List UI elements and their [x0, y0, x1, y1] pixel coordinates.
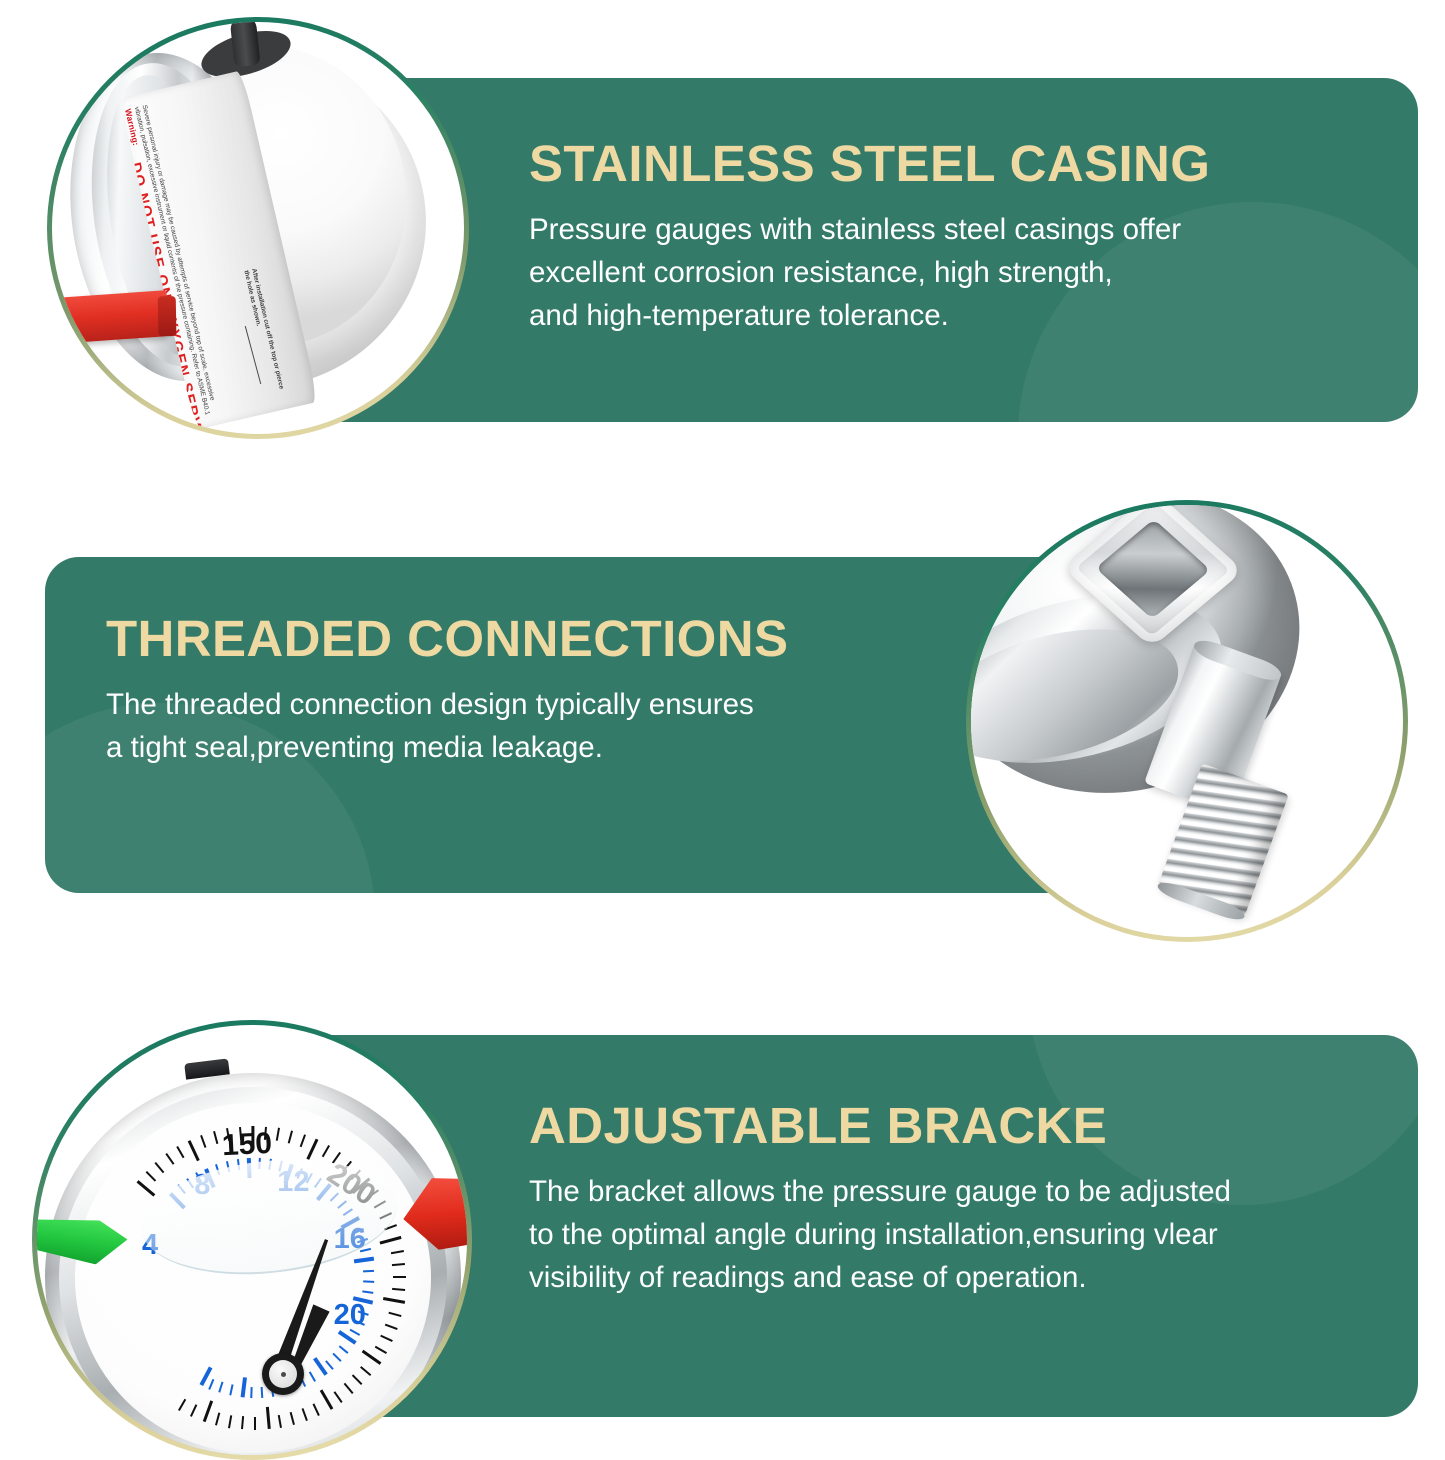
- dial-major-tick-psi: [361, 1350, 381, 1365]
- photo-gauge-casing-back: Warning: Severe personal injury or damag…: [52, 22, 464, 434]
- dial-minor-tick-bar: [362, 1291, 373, 1295]
- dial-major-tick-psi: [136, 1180, 155, 1197]
- dial-minor-tick-bar: [208, 1379, 214, 1390]
- feature-body-line: excellent corrosion resistance, high str…: [529, 251, 1319, 294]
- dial-minor-tick-bar: [308, 1372, 315, 1383]
- dial-minor-tick-psi: [145, 1171, 156, 1182]
- dial-minor-tick-psi: [241, 1416, 244, 1429]
- dial-minor-tick-bar: [338, 1345, 348, 1354]
- dial-minor-tick-psi: [290, 1412, 295, 1425]
- feature-body-1: Pressure gauges with stainless steel cas…: [529, 208, 1319, 337]
- dial-major-tick-psi: [307, 1139, 319, 1160]
- dial-number-bar: 4: [142, 1229, 158, 1262]
- feature-title-2: THREADED CONNECTIONS: [106, 613, 906, 665]
- circle-photo-clip: 15020048121620: [37, 1025, 467, 1455]
- feature-image-circle-casing: Warning: Severe personal injury or damag…: [47, 17, 469, 439]
- dial-major-tick-bar: [169, 1192, 186, 1209]
- dial-minor-tick-psi: [165, 1153, 174, 1165]
- dial-number-psi: 150: [221, 1127, 273, 1163]
- dial-minor-tick-psi: [288, 1131, 293, 1144]
- dial-minor-tick-psi: [374, 1346, 386, 1354]
- dial-minor-tick-psi: [302, 1408, 308, 1421]
- dial-minor-tick-psi: [391, 1250, 404, 1254]
- dial-minor-tick-bar: [332, 1353, 341, 1362]
- dial-minor-tick-psi: [200, 1135, 206, 1148]
- red-pull-tab: [55, 290, 170, 344]
- dial-minor-tick-bar: [177, 1184, 186, 1194]
- gauge-vent-nub: [229, 22, 260, 67]
- feature-text-block-3: ADJUSTABLE BRACKE The bracket allows the…: [529, 1100, 1329, 1299]
- dial-minor-tick-psi: [379, 1212, 392, 1219]
- dial-major-tick-bar: [354, 1257, 374, 1264]
- dial-minor-tick-psi: [343, 1383, 353, 1394]
- dial-minor-tick-bar: [215, 1164, 220, 1175]
- dial-minor-tick-bar: [325, 1360, 334, 1370]
- photo-gauge-dial: 15020048121620: [37, 1025, 467, 1455]
- dial-number-psi: 200: [321, 1157, 382, 1213]
- dial-minor-tick-psi: [388, 1312, 401, 1317]
- dial-minor-tick-psi: [384, 1224, 397, 1230]
- dial-minor-tick-bar: [250, 1387, 253, 1398]
- dial-major-tick-psi: [379, 1236, 401, 1245]
- gauge-dial-face: 15020048121620: [75, 1103, 431, 1453]
- feature-body-line: Pressure gauges with stainless steel cas…: [529, 208, 1319, 251]
- feature-body-line: and high-temperature tolerance.: [529, 294, 1319, 337]
- dial-minor-tick-psi: [313, 1403, 320, 1416]
- dial-minor-tick-bar: [261, 1387, 264, 1398]
- dial-major-tick-psi: [203, 1400, 214, 1422]
- dial-minor-tick-psi: [178, 1398, 186, 1410]
- feature-body-line: The bracket allows the pressure gauge to…: [529, 1170, 1329, 1213]
- feature-body-line: to the optimal angle during installation…: [529, 1213, 1329, 1256]
- gauge-needle-hub: [262, 1353, 304, 1395]
- dial-minor-tick-psi: [352, 1375, 363, 1386]
- dial-minor-tick-psi: [392, 1288, 405, 1291]
- feature-text-block-2: THREADED CONNECTIONS The threaded connec…: [106, 613, 906, 769]
- dial-minor-tick-psi: [392, 1263, 405, 1266]
- dial-minor-tick-psi: [380, 1335, 393, 1342]
- dial-minor-tick-psi: [254, 1417, 256, 1430]
- dial-minor-tick-psi: [393, 1276, 406, 1278]
- dial-minor-tick-psi: [300, 1134, 306, 1147]
- dial-minor-tick-bar: [363, 1270, 374, 1273]
- dial-minor-tick-bar: [229, 1385, 233, 1396]
- dial-major-tick-psi: [320, 1389, 334, 1410]
- feature-body-2: The threaded connection design typically…: [106, 683, 906, 769]
- dial-minor-tick-psi: [322, 1145, 330, 1157]
- dial-major-tick-bar: [241, 1377, 248, 1397]
- dial-major-tick-psi: [266, 1407, 271, 1429]
- dial-minor-tick-psi: [385, 1324, 398, 1330]
- dial-major-tick-psi: [383, 1297, 405, 1304]
- circle-photo-clip: [971, 505, 1403, 937]
- dial-number-bar: 12: [277, 1166, 309, 1199]
- install-note-text: After installation cut off the top or pi…: [242, 268, 286, 396]
- feature-image-circle-threaded: [966, 500, 1408, 942]
- dial-minor-tick-bar: [343, 1209, 353, 1217]
- dial-tick-marks: 15020048121620: [75, 1103, 431, 1453]
- dial-minor-tick-psi: [176, 1146, 184, 1158]
- dial-minor-tick-psi: [334, 1391, 343, 1403]
- feature-body-line: a tight seal,preventing media leakage.: [106, 726, 906, 769]
- dial-number-bar: 16: [334, 1223, 366, 1256]
- dial-major-tick-psi: [187, 1140, 199, 1161]
- dial-minor-tick-bar: [186, 1178, 194, 1188]
- dial-minor-tick-psi: [360, 1366, 371, 1376]
- feature-title-1: STAINLESS STEEL CASING: [529, 138, 1319, 190]
- feature-body-line: visibility of readings and ease of opera…: [529, 1256, 1329, 1299]
- dial-minor-tick-psi: [213, 1131, 218, 1144]
- feature-text-block-1: STAINLESS STEEL CASING Pressure gauges w…: [529, 138, 1319, 337]
- dial-minor-tick-bar: [363, 1281, 374, 1284]
- infographic-canvas: STAINLESS STEEL CASING Pressure gauges w…: [0, 0, 1445, 1445]
- dial-minor-tick-psi: [190, 1404, 197, 1417]
- dial-minor-tick-bar: [218, 1382, 223, 1393]
- dial-minor-tick-psi: [276, 1128, 280, 1141]
- feature-title-3: ADJUSTABLE BRACKE: [529, 1100, 1329, 1152]
- dial-minor-tick-psi: [228, 1415, 232, 1428]
- dial-minor-tick-psi: [215, 1412, 220, 1425]
- dial-number-bar: 20: [334, 1299, 366, 1332]
- circle-photo-clip: Warning: Severe personal injury or damag…: [52, 22, 464, 434]
- dial-minor-tick-psi: [278, 1415, 282, 1428]
- feature-body-3: The bracket allows the pressure gauge to…: [529, 1170, 1329, 1299]
- dial-minor-tick-psi: [373, 1200, 385, 1208]
- dial-minor-tick-psi: [155, 1162, 165, 1173]
- dial-number-bar: 8: [194, 1169, 210, 1202]
- photo-threaded-connection: [971, 505, 1403, 937]
- feature-body-line: The threaded connection design typically…: [106, 683, 906, 726]
- feature-image-circle-dial: 15020048121620: [32, 1020, 472, 1460]
